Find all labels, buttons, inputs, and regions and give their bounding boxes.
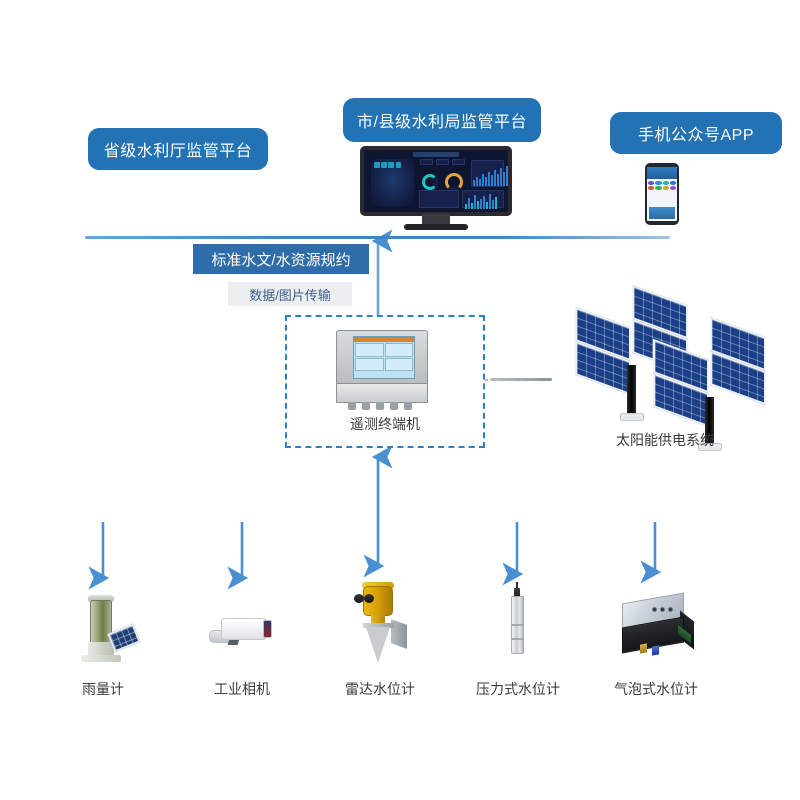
protocol-label: 标准水文/水资源规约 <box>193 244 369 274</box>
dashboard-card <box>436 159 449 166</box>
monitor-base <box>404 224 468 230</box>
sensor-caption-text: 气泡式水位计 <box>614 681 698 697</box>
rtu-cable-gland <box>404 402 412 410</box>
camera-lens <box>263 620 272 638</box>
sensor-caption-industrial-camera: 工业相机 <box>202 679 282 699</box>
app-icon <box>655 186 661 190</box>
platform-city[interactable]: 市/县级水利局监管平台 <box>343 98 541 142</box>
rtu-cable-gland <box>376 402 384 410</box>
sensor-radar-level <box>345 578 415 668</box>
phone-app-icon-grid <box>647 179 677 192</box>
dashboard-kpi <box>381 162 387 168</box>
rtu-display-grid <box>354 342 414 372</box>
rtu-lower-housing <box>336 383 428 403</box>
app-icon <box>655 181 661 185</box>
app-icon <box>663 181 669 185</box>
sensor-caption-text: 雷达水位计 <box>345 681 415 697</box>
bubble-connector <box>640 643 647 653</box>
app-icon <box>670 186 676 190</box>
dashboard-kpi <box>396 162 402 168</box>
rtu-device <box>330 330 440 410</box>
sensor-caption-radar-level: 雷达水位计 <box>338 679 422 699</box>
phone-body <box>645 163 679 225</box>
phone-screen <box>647 167 677 221</box>
rtu-display <box>353 336 415 379</box>
rtu-display-cell <box>385 358 414 372</box>
bubble-indicator-led <box>652 607 657 612</box>
app-icon <box>663 186 669 190</box>
sensor-pressure-level <box>487 582 547 662</box>
rtu-display-cell <box>385 343 414 357</box>
dashboard-line-chart <box>419 190 459 209</box>
bubble-indicator-led <box>660 607 665 612</box>
phone-app-header <box>647 167 677 179</box>
sensor-caption-bubble-level: 气泡式水位计 <box>610 679 702 699</box>
radar-port <box>354 594 364 603</box>
rain-gauge-base <box>81 655 121 662</box>
dashboard-donut <box>445 173 463 191</box>
rtu-cable-gland <box>362 402 370 410</box>
transfer-label-text: 数据/图片传输 <box>249 285 331 304</box>
rtu-caption-text: 遥测终端机 <box>350 416 420 432</box>
pressure-band <box>511 638 524 640</box>
transfer-label: 数据/图片传输 <box>228 282 352 306</box>
dashboard-bars <box>473 164 508 186</box>
dashboard-kpi <box>388 162 394 168</box>
rain-gauge-solar-panel <box>107 623 140 652</box>
sensor-bus <box>103 457 655 578</box>
platform-city-label: 市/县级水利局监管平台 <box>357 108 527 132</box>
rtu-enclosure <box>336 330 428 385</box>
phone-app-banner <box>649 207 675 219</box>
app-icon <box>670 181 676 185</box>
dashboard-card <box>452 159 465 166</box>
sensor-caption-text: 雨量计 <box>82 681 124 697</box>
platform-province[interactable]: 省级水利厅监管平台 <box>88 128 268 170</box>
rtu-cable-gland <box>390 402 398 410</box>
rain-gauge-neck <box>88 642 114 656</box>
app-icon <box>648 181 654 185</box>
radar-horn-antenna <box>366 627 390 663</box>
sensor-bubble-level <box>612 586 704 666</box>
bubble-indicator-led <box>668 607 673 612</box>
sensor-caption-rain-gauge: 雨量计 <box>63 679 143 699</box>
platform-bus-line <box>85 236 670 239</box>
dashboard-donut <box>422 174 438 190</box>
dashboard-title-bar <box>413 152 459 157</box>
rtu-display-cell <box>355 358 384 372</box>
sensor-caption-text: 压力式水位计 <box>476 681 560 697</box>
radar-port <box>364 594 374 603</box>
sensor-caption-text: 工业相机 <box>214 681 270 697</box>
sensor-rain-gauge <box>68 592 140 664</box>
pressure-band <box>511 624 524 626</box>
bubble-connector <box>652 645 659 655</box>
rtu-cable-gland <box>348 402 356 410</box>
dashboard-bars <box>465 193 497 209</box>
sensor-caption-pressure-level: 压力式水位计 <box>472 679 564 699</box>
dashboard-card <box>420 159 433 166</box>
rtu-antenna <box>490 378 552 381</box>
solar-caption-text: 太阳能供电系统 <box>616 432 714 448</box>
solar-caption: 太阳能供电系统 <box>585 430 745 450</box>
dashboard-kpi <box>374 162 380 168</box>
protocol-label-text: 标准水文/水资源规约 <box>211 249 350 270</box>
app-icon <box>648 186 654 190</box>
monitor-screen <box>364 150 508 212</box>
camera-barrel <box>221 618 267 640</box>
rtu-caption: 遥测终端机 <box>285 414 485 434</box>
platform-province-label: 省级水利厅监管平台 <box>104 137 253 161</box>
solar-pole-base <box>620 413 644 421</box>
platform-app-label: 手机公众号APP <box>638 121 754 145</box>
monitor-dashboard <box>360 146 512 232</box>
solar-pole <box>627 365 636 415</box>
sensor-industrial-camera <box>205 600 281 660</box>
platform-app[interactable]: 手机公众号APP <box>610 112 782 154</box>
smartphone <box>645 163 679 225</box>
monitor-bezel <box>360 146 512 216</box>
rtu-display-cell <box>355 343 384 357</box>
diagram-canvas: 省级水利厅监管平台 市/县级水利局监管平台 手机公众号APP <box>0 0 800 800</box>
